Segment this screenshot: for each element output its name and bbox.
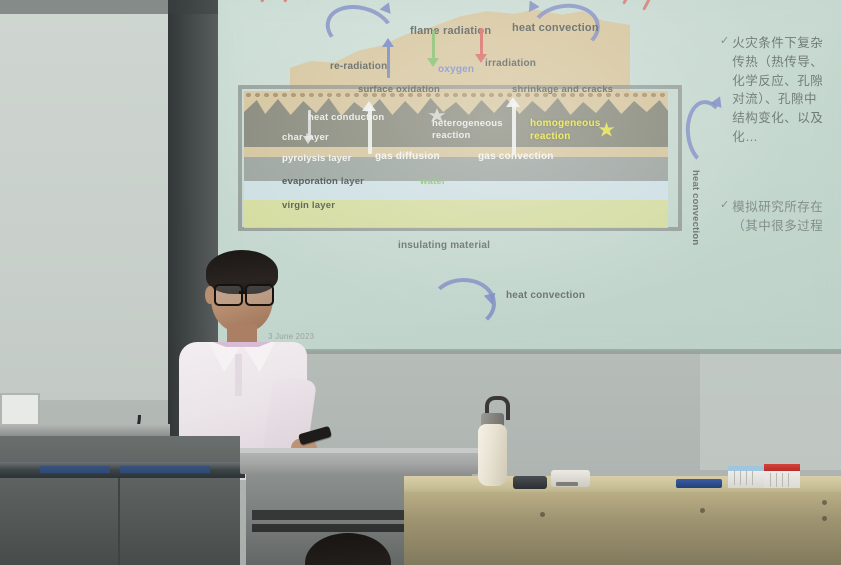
blue-folder[interactable]	[676, 479, 722, 488]
box-stripe	[746, 471, 747, 485]
desk-hole	[822, 516, 827, 521]
box-stripe	[782, 473, 783, 487]
thermos-bottle[interactable]	[478, 424, 507, 486]
polo-placket	[235, 354, 242, 396]
glasses-bridge	[239, 291, 247, 294]
cabinet-seam	[118, 478, 120, 565]
screen-bottom-rail	[218, 349, 841, 354]
box-stripe	[776, 473, 777, 487]
box-stripe	[770, 473, 771, 487]
white-device-port	[556, 482, 578, 486]
screen-light-glow	[218, 0, 841, 351]
ceiling-shadow	[0, 0, 222, 14]
desk-front-panel	[404, 492, 841, 565]
desk-hole	[540, 512, 545, 517]
desk-hole	[822, 500, 827, 505]
left-wall	[0, 0, 170, 400]
mobile-phone[interactable]	[513, 476, 547, 489]
box-stripe	[734, 471, 735, 485]
box-stripe	[788, 473, 789, 487]
lectern-front-edge	[240, 448, 478, 453]
rack-indicator-strip	[40, 466, 110, 473]
left-cabinet	[0, 478, 240, 565]
red-box-lid	[764, 464, 800, 471]
box-stripe	[752, 471, 753, 485]
equipment-rack-top	[0, 424, 170, 436]
glasses-right-lens	[245, 284, 274, 306]
lecture-hall-photo: flame radiation heat convection re-radia…	[0, 0, 841, 565]
box-stripe	[740, 471, 741, 485]
rack-indicator-strip	[120, 466, 210, 473]
desk-hole	[700, 508, 705, 513]
glasses-left-lens	[214, 284, 243, 306]
